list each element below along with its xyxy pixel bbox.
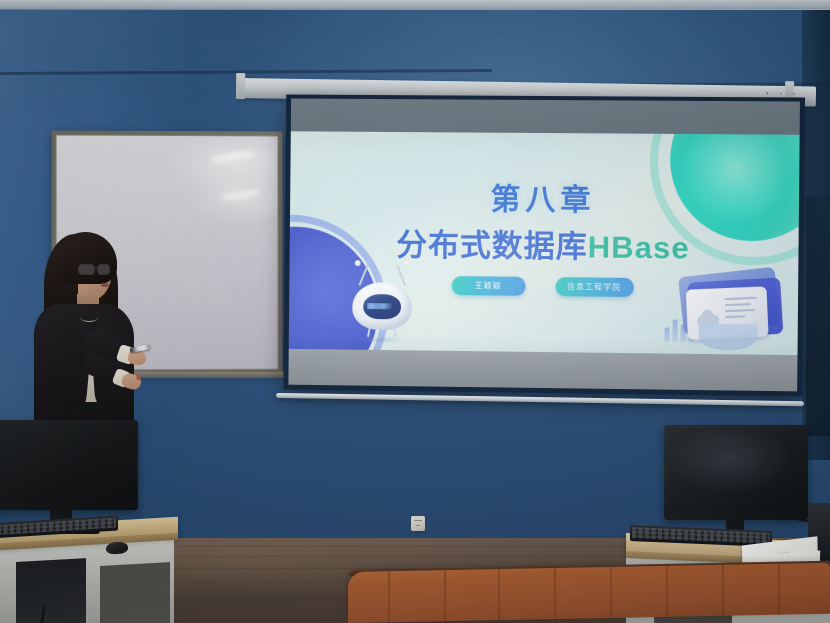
projected-slide: 第八章 分布式数据库HBase 王颖颖 信息工程学院 [289,131,800,355]
wall-right-panel [806,196,830,436]
necklace [80,312,98,322]
student-desk-left [0,420,190,623]
lectern [348,563,830,623]
monitor-right[interactable] [664,425,808,520]
monitor-left[interactable] [0,420,138,510]
desk-left-opening-secondary [100,562,170,623]
glasses-right-lens [97,264,110,275]
classroom-photo: ▾ ▪ ▪ [0,0,830,623]
department-pill: 信息工程学院 [555,277,633,297]
screen-canvas: 第八章 分布式数据库HBase 王颖颖 信息工程学院 [288,99,800,392]
presenter-name-pill: 王颖颖 [451,276,525,296]
card-base-shape [699,324,758,351]
robot-waveform [367,303,397,309]
projection-letterbox-top [291,99,800,135]
slide-subtitle-cn: 分布式数据库 [396,228,588,265]
projector-screen: 第八章 分布式数据库HBase 王颖颖 信息工程学院 [283,94,805,396]
keyboard-right-keys [632,527,770,544]
presenter-mouth [101,283,109,287]
fingernail [136,376,141,380]
glasses-bridge [94,268,98,269]
robot-mascot-icon [344,256,420,342]
wall-power-outlet[interactable] [411,516,425,531]
desk-left-opening [16,558,86,623]
slide-subtitle: 分布式数据库HBase [290,219,799,269]
screen-bracket-left [236,73,245,99]
slide-chapter-title: 第八章 [290,173,799,221]
presenter-hair-front [55,232,117,284]
glasses-left-lens [78,264,95,275]
monitor-left-screen [0,423,135,504]
monitor-right-screen [667,428,805,515]
slide-subtitle-en: HBase [588,229,690,265]
